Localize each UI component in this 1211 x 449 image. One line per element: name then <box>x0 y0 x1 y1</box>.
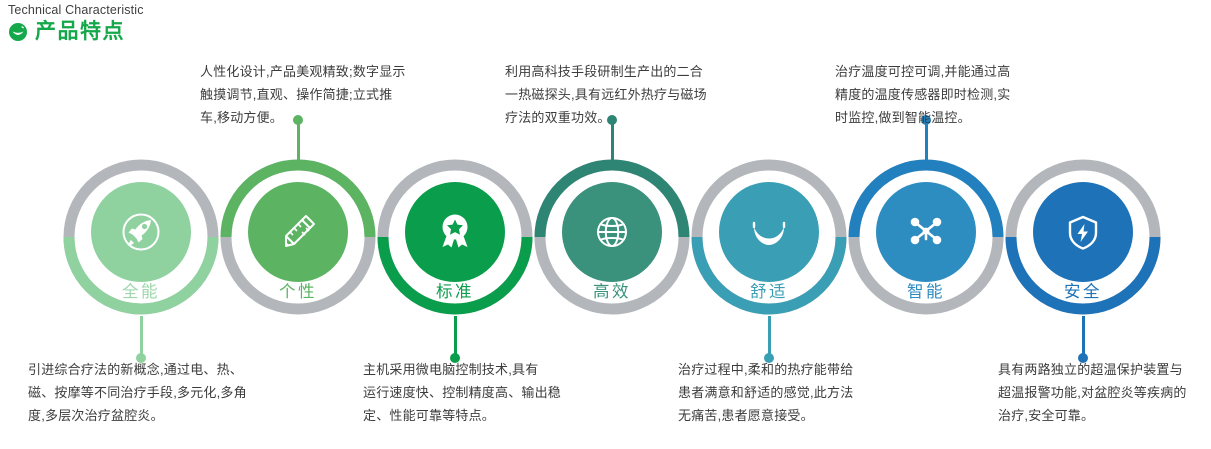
node-label-gexing: 个性 <box>217 282 379 302</box>
text-line: 超温报警功能,对盆腔炎等疾病的 <box>998 381 1211 404</box>
text-line: 时监控,做到智能温控。 <box>835 106 1065 129</box>
text-line: 治疗过程中,柔和的热疗能带给 <box>678 358 923 381</box>
node-shushi[interactable]: 舒适 <box>688 156 850 318</box>
text-block-gaoxiao: 利用高科技手段研制生产出的二合 一热磁探头,具有远红外热疗与磁场 疗法的双重功效… <box>505 60 745 129</box>
icon-disc-biaozhun <box>405 182 505 282</box>
connector-biaozhun <box>454 316 457 358</box>
node-biaozhun[interactable]: 标准 <box>374 156 536 318</box>
text-line: 利用高科技手段研制生产出的二合 <box>505 60 745 83</box>
text-block-anquan: 具有两路独立的超温保护装置与 超温报警功能,对盆腔炎等疾病的 治疗,安全可靠。 <box>998 358 1211 427</box>
text-block-zhineng: 治疗温度可控可调,并能通过高 精度的温度传感器即时检测,实 时监控,做到智能温控… <box>835 60 1065 129</box>
icon-disc-quanneng <box>91 182 191 282</box>
node-gexing[interactable]: 个性 <box>217 156 379 318</box>
text-line: 运行速度快、控制精度高、输出稳 <box>363 381 608 404</box>
connector-quanneng <box>140 316 143 358</box>
text-line: 治疗,安全可靠。 <box>998 404 1211 427</box>
text-line: 精度的温度传感器即时检测,实 <box>835 83 1065 106</box>
text-line: 度,多层次治疗盆腔炎。 <box>28 404 283 427</box>
node-label-zhineng: 智能 <box>845 282 1007 302</box>
node-zhineng[interactable]: 智能 <box>845 156 1007 318</box>
text-block-quanneng: 引进综合疗法的新概念,通过电、热、 磁、按摩等不同治疗手段,多元化,多角 度,多… <box>28 358 283 427</box>
node-gaoxiao[interactable]: 高效 <box>531 156 693 318</box>
icon-disc-gaoxiao <box>562 182 662 282</box>
text-block-biaozhun: 主机采用微电脑控制技术,具有 运行速度快、控制精度高、输出稳 定、性能可靠等特点… <box>363 358 608 427</box>
rocket-icon <box>115 206 167 258</box>
node-label-anquan: 安全 <box>1002 282 1164 302</box>
node-quanneng[interactable]: 全能 <box>60 156 222 318</box>
text-line: 无痛苦,患者愿意接受。 <box>678 404 923 427</box>
text-line: 定、性能可靠等特点。 <box>363 404 608 427</box>
node-label-quanneng: 全能 <box>60 282 222 302</box>
text-line: 具有两路独立的超温保护装置与 <box>998 358 1211 381</box>
globe-icon <box>586 206 638 258</box>
text-block-gexing: 人性化设计,产品美观精致;数字显示 触摸调节,直观、操作简捷;立式推 车,移动方… <box>200 60 440 129</box>
node-anquan[interactable]: 安全 <box>1002 156 1164 318</box>
icon-disc-anquan <box>1033 182 1133 282</box>
text-line: 一热磁探头,具有远红外热疗与磁场 <box>505 83 745 106</box>
network-nodes-icon <box>900 206 952 258</box>
text-line: 触摸调节,直观、操作简捷;立式推 <box>200 83 440 106</box>
node-label-gaoxiao: 高效 <box>531 282 693 302</box>
connector-shushi <box>768 316 771 358</box>
pencil-ruler-icon <box>272 206 324 258</box>
icon-disc-zhineng <box>876 182 976 282</box>
text-line: 引进综合疗法的新概念,通过电、热、 <box>28 358 283 381</box>
text-line: 治疗温度可控可调,并能通过高 <box>835 60 1065 83</box>
icon-disc-gexing <box>248 182 348 282</box>
text-block-shushi: 治疗过程中,柔和的热疗能带给 患者满意和舒适的感觉,此方法 无痛苦,患者愿意接受… <box>678 358 923 427</box>
award-ribbon-icon <box>429 206 481 258</box>
icon-disc-shushi <box>719 182 819 282</box>
shield-bolt-icon <box>1057 206 1109 258</box>
node-label-shushi: 舒适 <box>688 282 850 302</box>
text-line: 车,移动方便。 <box>200 106 440 129</box>
infographic-page: Technical Characteristic 产品特点 <box>0 0 1211 449</box>
text-line: 疗法的双重功效。 <box>505 106 745 129</box>
node-label-biaozhun: 标准 <box>374 282 536 302</box>
text-line: 磁、按摩等不同治疗手段,多元化,多角 <box>28 381 283 404</box>
text-line: 人性化设计,产品美观精致;数字显示 <box>200 60 440 83</box>
text-line: 患者满意和舒适的感觉,此方法 <box>678 381 923 404</box>
smile-icon <box>741 204 797 260</box>
connector-anquan <box>1082 316 1085 358</box>
text-line: 主机采用微电脑控制技术,具有 <box>363 358 608 381</box>
